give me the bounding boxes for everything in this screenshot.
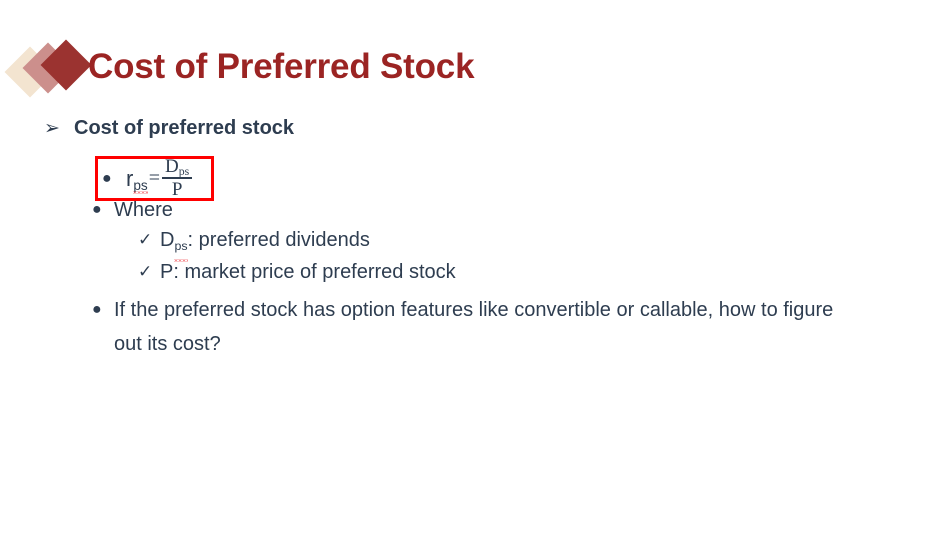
- definition-dps-description: : preferred dividends: [188, 229, 370, 251]
- outline-item-question: ● If the preferred stock has option feat…: [92, 293, 928, 361]
- definition-item-p: ✓ P: market price of preferred stock: [138, 257, 928, 287]
- check-bullet-icon: ✓: [138, 225, 160, 255]
- slide-title: Cost of Preferred Stock: [88, 36, 474, 98]
- formula-equals-sign: =: [149, 167, 160, 190]
- definition-item-dps: ✓ Dps: preferred dividends: [138, 225, 928, 257]
- diamond-logo: [12, 44, 90, 100]
- outline-item-level1: ➢ Cost of preferred stock: [44, 114, 928, 143]
- slide-header: Cost of Preferred Stock: [0, 36, 928, 106]
- outline-question-label: If the preferred stock has option featur…: [114, 293, 844, 361]
- definition-p-symbol: P: [160, 261, 173, 283]
- slide-canvas: { "slide": { "title": "Cost of Preferred…: [0, 0, 928, 540]
- definition-dps-subscript: ps: [174, 231, 187, 261]
- formula-lhs-subscript: ps: [133, 178, 147, 193]
- formula-lhs-var: r: [126, 166, 133, 191]
- formula-numerator: Dps: [162, 157, 192, 177]
- definition-p-description: : market price of preferred stock: [173, 261, 455, 283]
- formula-fraction: Dps P: [162, 157, 192, 199]
- definition-dps-text: Dps: preferred dividends: [160, 225, 370, 257]
- dot-bullet-icon: ●: [98, 171, 126, 187]
- formula-lhs: rps: [126, 166, 148, 192]
- definition-p-text: P: market price of preferred stock: [160, 257, 456, 287]
- slide-body: ➢ Cost of preferred stock ● Where ✓ Dps:…: [0, 114, 928, 361]
- formula-numerator-var: D: [165, 156, 179, 177]
- formula-numerator-subscript: ps: [179, 165, 189, 178]
- arrow-bullet-icon: ➢: [44, 114, 74, 143]
- outline-level1-label: Cost of preferred stock: [74, 114, 294, 143]
- check-bullet-icon: ✓: [138, 257, 160, 287]
- preferred-stock-cost-formula: rps = Dps P: [126, 158, 192, 200]
- dot-bullet-icon: ●: [92, 293, 114, 327]
- outline-item-where: ● Where: [92, 195, 928, 225]
- formula-denominator: P: [169, 179, 186, 199]
- definition-dps-symbol: D: [160, 229, 174, 251]
- formula-highlight-box: ● rps = Dps P: [95, 156, 214, 201]
